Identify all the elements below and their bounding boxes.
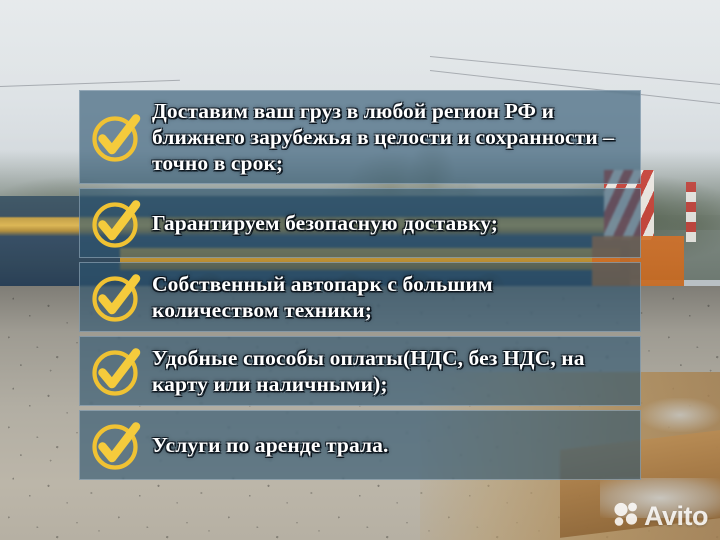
feature-item: Гарантируем безопасную доставку; bbox=[79, 188, 641, 258]
check-circle-icon bbox=[88, 195, 144, 251]
feature-list: Доставим ваш груз в любой регион РФ и бл… bbox=[79, 90, 641, 480]
banner-image: Доставим ваш груз в любой регион РФ и бл… bbox=[0, 0, 720, 540]
avito-dots-icon bbox=[613, 501, 639, 532]
feature-item: Доставим ваш груз в любой регион РФ и бл… bbox=[79, 90, 641, 184]
feature-text: Собственный автопарк с большим количеств… bbox=[152, 271, 567, 323]
feature-text: Доставим ваш груз в любой регион РФ и бл… bbox=[152, 98, 630, 177]
check-circle-icon bbox=[88, 269, 144, 325]
striped-post bbox=[686, 182, 696, 242]
avito-wordmark: Avito bbox=[644, 503, 708, 530]
puddle-upper bbox=[640, 398, 720, 432]
feature-text: Удобные способы оплаты(НДС, без НДС, на … bbox=[152, 345, 630, 397]
check-circle-icon bbox=[88, 109, 144, 165]
feature-text: Услуги по аренде трала. bbox=[152, 432, 630, 458]
avito-watermark: Avito bbox=[613, 501, 708, 532]
feature-item: Услуги по аренде трала. bbox=[79, 410, 641, 480]
check-circle-icon bbox=[88, 417, 144, 473]
check-circle-icon bbox=[88, 343, 144, 399]
feature-item: Удобные способы оплаты(НДС, без НДС, на … bbox=[79, 336, 641, 406]
feature-item: Собственный автопарк с большим количеств… bbox=[79, 262, 641, 332]
feature-text: Гарантируем безопасную доставку; bbox=[152, 210, 630, 236]
